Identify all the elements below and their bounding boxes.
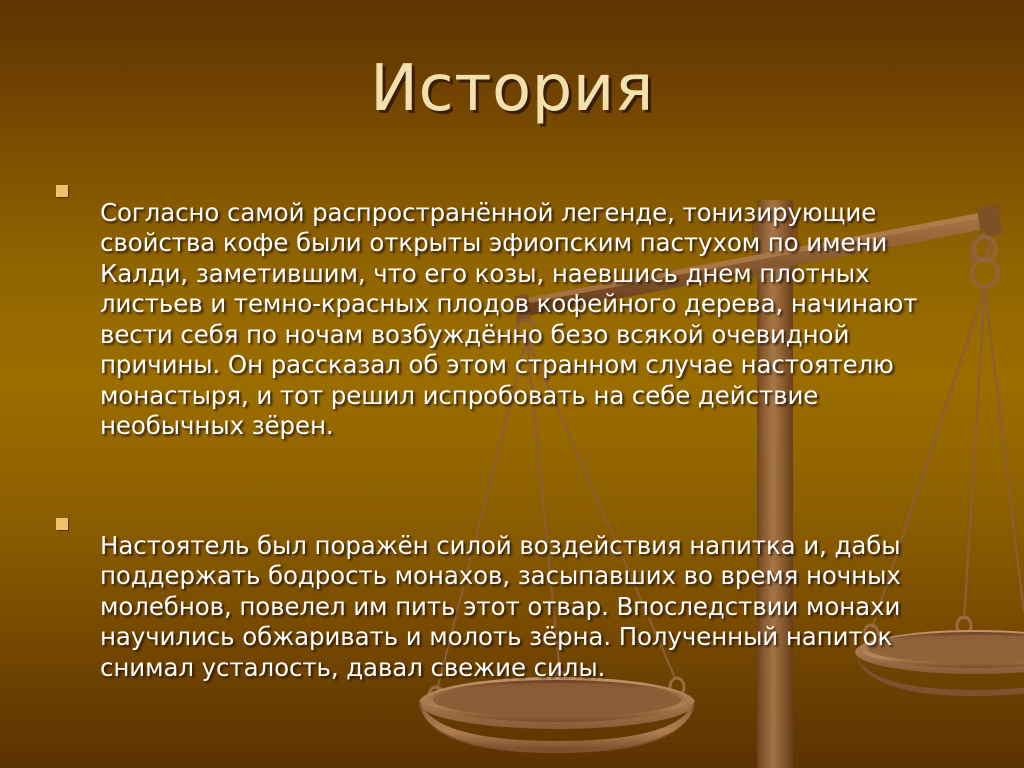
bullet-item: Настоятель был поражён силой воздействия… [56,506,956,708]
bullet-item: Согласно самой распространённой легенде,… [56,173,956,466]
slide-body: Согласно самой распространённой легенде,… [56,173,956,748]
bullet-text: Согласно самой распространённой легенде,… [100,198,956,442]
bullet-text: Настоятель был поражён силой воздействия… [100,531,956,684]
slide-title: История [0,56,1024,123]
presentation-slide: История Согласно самой распространённой … [0,0,1024,768]
bullet-square-icon [56,518,68,530]
bullet-square-icon [56,185,68,197]
